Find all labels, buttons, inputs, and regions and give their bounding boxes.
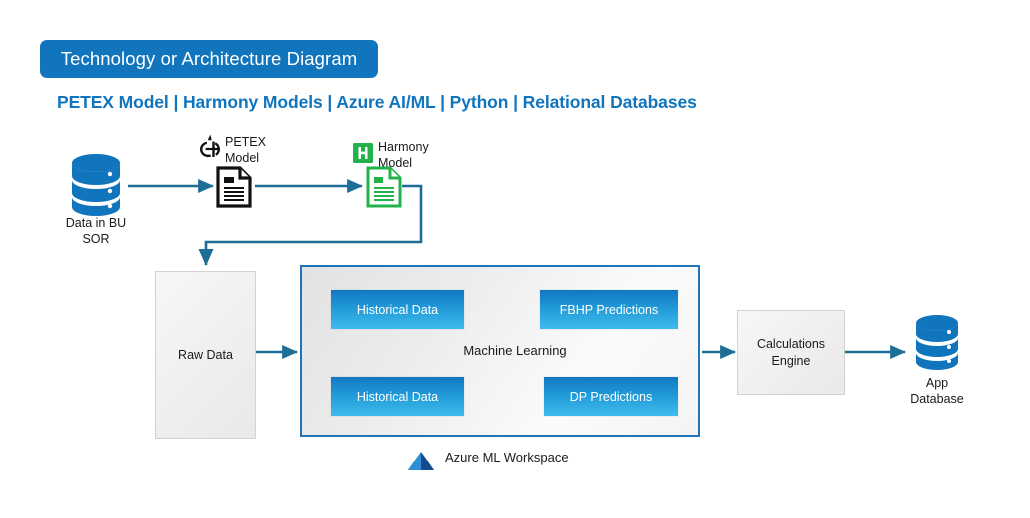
ml-box-dp-predictions: DP Predictions bbox=[544, 377, 678, 416]
ml-box-label: Historical Data bbox=[357, 303, 438, 317]
harmony-document-icon bbox=[366, 166, 402, 208]
calculations-engine-box: Calculations Engine bbox=[737, 310, 845, 395]
architecture-diagram-canvas: Technology or Architecture Diagram PETEX… bbox=[0, 0, 1030, 518]
calculations-engine-label: Calculations Engine bbox=[757, 336, 825, 369]
database-icon bbox=[66, 152, 126, 216]
ml-box-historical-data-top: Historical Data bbox=[331, 290, 464, 329]
petex-document-icon bbox=[216, 166, 252, 208]
page-subtitle: PETEX Model | Harmony Models | Azure AI/… bbox=[57, 92, 697, 113]
petex-logo-icon bbox=[199, 134, 221, 158]
ml-box-label: Historical Data bbox=[357, 390, 438, 404]
ml-box-label: DP Predictions bbox=[570, 390, 652, 404]
ml-box-fbhp-predictions: FBHP Predictions bbox=[540, 290, 678, 329]
page-title: Technology or Architecture Diagram bbox=[61, 48, 357, 70]
harmony-logo-icon bbox=[353, 143, 373, 163]
ml-box-historical-data-bottom: Historical Data bbox=[331, 377, 464, 416]
azure-ml-workspace-note: Azure ML Workspace bbox=[405, 437, 569, 478]
machine-learning-caption: Machine Learning bbox=[0, 343, 1030, 358]
azure-ml-workspace-label: Azure ML Workspace bbox=[445, 450, 569, 465]
ml-box-label: FBHP Predictions bbox=[560, 303, 658, 317]
source-database-label: Data in BU SOR bbox=[46, 215, 146, 247]
app-database-icon bbox=[911, 313, 963, 371]
page-title-pill: Technology or Architecture Diagram bbox=[40, 40, 378, 78]
petex-brand-label: PETEX Model bbox=[225, 135, 266, 166]
app-database-label: App Database bbox=[887, 375, 987, 407]
azure-ml-beaker-icon bbox=[405, 437, 437, 478]
